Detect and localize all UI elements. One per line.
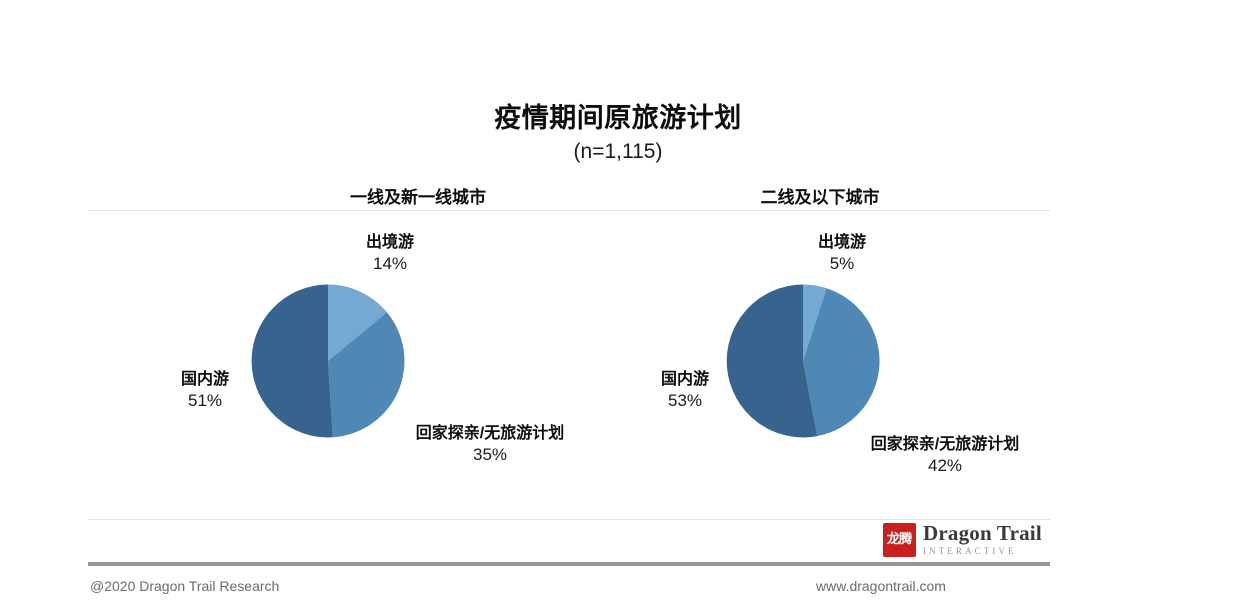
label-outbound-tier1-name: 出境游 bbox=[310, 233, 470, 253]
page-subtitle: (n=1,115) bbox=[0, 140, 1236, 164]
pie-slice-domestic-tier1[interactable] bbox=[252, 285, 333, 438]
label-home-tier1: 回家探亲/无旅游计划 35% bbox=[365, 424, 615, 467]
label-domestic-tier2-name: 国内游 bbox=[630, 370, 740, 390]
label-outbound-tier1: 出境游 14% bbox=[310, 233, 470, 276]
page-title: 疫情期间原旅游计划 bbox=[0, 96, 1236, 135]
brand-name: Dragon Trail bbox=[923, 523, 1042, 544]
label-outbound-tier1-value: 14% bbox=[310, 253, 470, 276]
pie-svg-tier2 bbox=[725, 283, 881, 439]
label-domestic-tier2: 国内游 53% bbox=[630, 370, 740, 413]
divider-top bbox=[88, 210, 1050, 211]
seal-characters: 龙腾 bbox=[887, 534, 911, 545]
label-outbound-tier2: 出境游 5% bbox=[762, 233, 922, 276]
divider-bottom bbox=[88, 562, 1050, 566]
pie-chart-tier2 bbox=[725, 283, 881, 439]
footer-website[interactable]: www.dragontrail.com bbox=[816, 578, 946, 594]
label-domestic-tier1: 国内游 51% bbox=[150, 370, 260, 413]
label-outbound-tier2-value: 5% bbox=[762, 253, 922, 276]
label-outbound-tier2-name: 出境游 bbox=[762, 233, 922, 253]
label-home-tier2-name: 回家探亲/无旅游计划 bbox=[820, 435, 1070, 455]
pie-svg-tier1 bbox=[250, 283, 406, 439]
brand-logo[interactable]: 龙腾 Dragon Trail INTERACTIVE bbox=[883, 519, 1053, 561]
brand-logo-text: Dragon Trail INTERACTIVE bbox=[923, 523, 1042, 557]
brand-tagline: INTERACTIVE bbox=[923, 546, 1042, 557]
footer-copyright: @2020 Dragon Trail Research bbox=[90, 578, 279, 594]
panel-header-tier2: 二线及以下城市 bbox=[570, 183, 1070, 208]
slide-canvas: 疫情期间原旅游计划 (n=1,115) 一线及新一线城市 二线及以下城市 出境游… bbox=[0, 0, 1236, 616]
label-domestic-tier1-value: 51% bbox=[150, 390, 260, 413]
label-domestic-tier2-value: 53% bbox=[630, 390, 740, 413]
label-home-tier1-value: 35% bbox=[365, 444, 615, 467]
label-home-tier2-value: 42% bbox=[820, 455, 1070, 478]
pie-chart-tier1 bbox=[250, 283, 406, 439]
label-home-tier2: 回家探亲/无旅游计划 42% bbox=[820, 435, 1070, 478]
seal-icon: 龙腾 bbox=[883, 523, 916, 557]
label-domestic-tier1-name: 国内游 bbox=[150, 370, 260, 390]
label-home-tier1-name: 回家探亲/无旅游计划 bbox=[365, 424, 615, 444]
